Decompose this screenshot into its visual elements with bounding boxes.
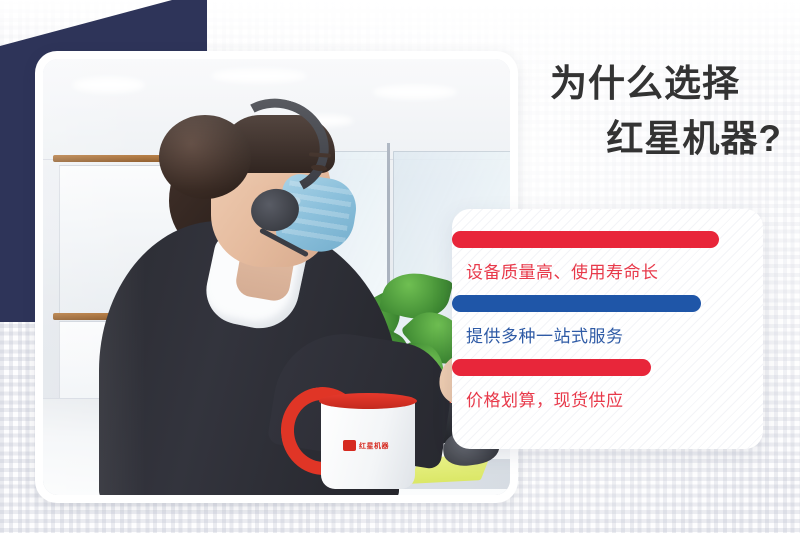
- ceiling-light-icon: [373, 85, 457, 99]
- ceiling-light-icon: [73, 77, 145, 93]
- call-center-agent-photo: 红星机器: [43, 59, 510, 495]
- brand-mark-icon: [343, 440, 356, 451]
- feature-bar-2: [452, 295, 701, 312]
- feature-bar-3: [452, 359, 651, 376]
- feature-bar-1: [452, 231, 719, 248]
- list-item: 设备质量高、使用寿命长: [452, 231, 763, 283]
- feature-label-1: 设备质量高、使用寿命长: [452, 258, 763, 283]
- ceiling-light-icon: [211, 69, 307, 83]
- promo-banner: 红星机器 为什么选择 红星机器? 设备质量高、使用寿命长 提供多种一站式服务 价…: [0, 0, 800, 533]
- mug-logo: 红星机器: [343, 440, 389, 451]
- headline-line-2: 红星机器?: [550, 112, 790, 167]
- features-card: 设备质量高、使用寿命长 提供多种一站式服务 价格划算，现货供应: [452, 209, 763, 449]
- feature-label-3: 价格划算，现货供应: [452, 386, 763, 411]
- photo-card: 红星机器: [35, 51, 518, 503]
- list-item: 提供多种一站式服务: [452, 295, 763, 347]
- mug-rim: [319, 393, 417, 409]
- headline-line-1: 为什么选择: [550, 57, 790, 112]
- mug-logo-text: 红星机器: [359, 441, 389, 451]
- feature-label-2: 提供多种一站式服务: [452, 322, 763, 347]
- list-item: 价格划算，现货供应: [452, 359, 763, 411]
- page-title: 为什么选择 红星机器?: [550, 57, 790, 167]
- feature-list: 设备质量高、使用寿命长 提供多种一站式服务 价格划算，现货供应: [452, 209, 763, 411]
